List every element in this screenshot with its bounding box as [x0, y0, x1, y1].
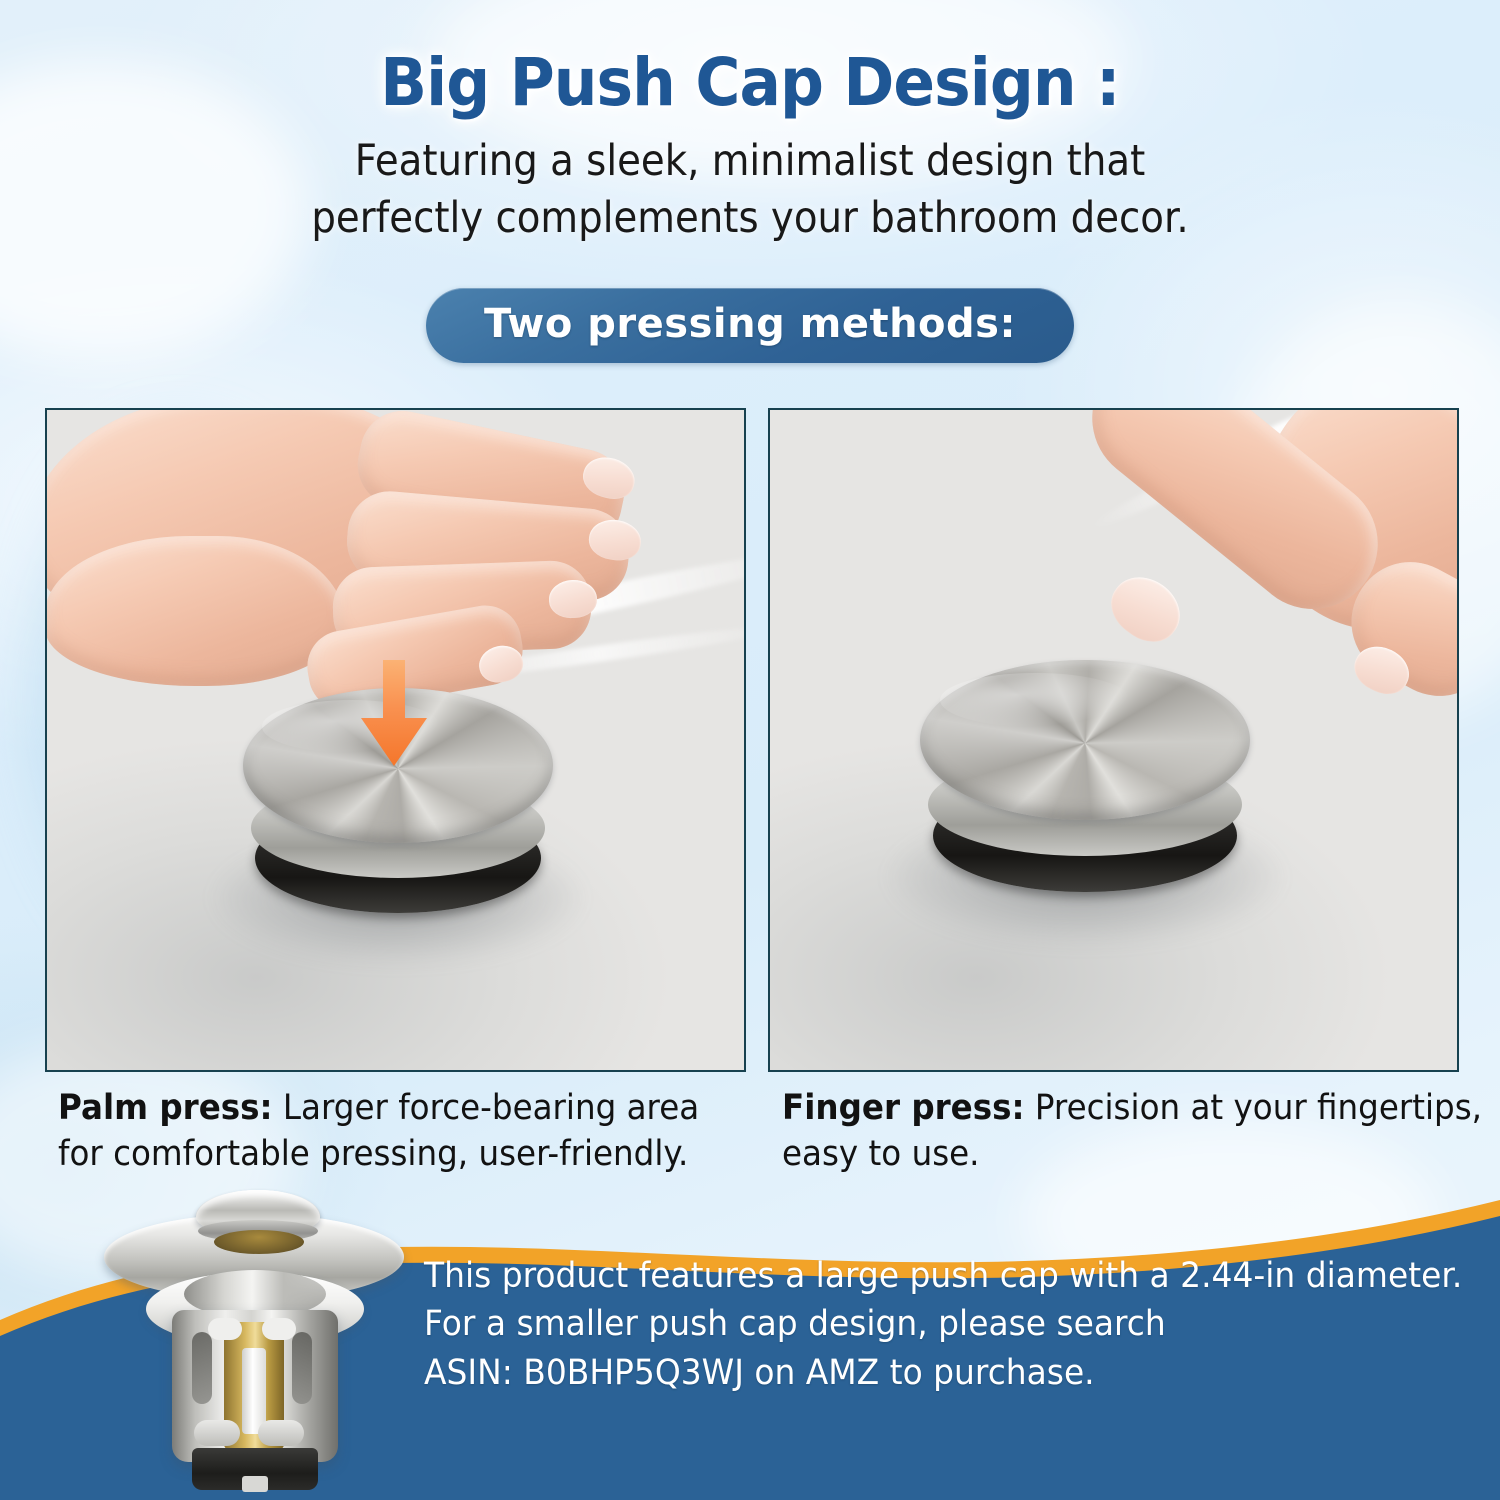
- caption-label-finger: Finger press:: [782, 1088, 1025, 1128]
- product-basket-slot: [262, 1318, 296, 1340]
- caption-text-finger-line-1: Precision at your fingertips,: [1025, 1088, 1483, 1128]
- push-drain-cap: [920, 660, 1250, 918]
- photo-panel-finger-press: [768, 408, 1459, 1072]
- photo-panel-palm-press: [45, 408, 746, 1072]
- caption-finger-press: Finger press: Precision at your fingerti…: [782, 1086, 1489, 1177]
- caption-label-palm: Palm press:: [58, 1088, 273, 1128]
- caption-text-finger-line-2: easy to use.: [782, 1132, 1489, 1178]
- banner-message: This product features a large push cap w…: [424, 1252, 1462, 1397]
- banner-line-1: This product features a large push cap w…: [424, 1252, 1462, 1300]
- banner-line-3: ASIN: B0BHP5Q3WJ on AMZ to purchase.: [424, 1349, 1462, 1397]
- badge-container: Two pressing methods:: [0, 288, 1500, 363]
- page-subtitle: Featuring a sleek, minimalist design tha…: [75, 133, 1425, 247]
- banner-line-2: For a smaller push cap design, please se…: [424, 1300, 1462, 1348]
- product-basket-slot: [258, 1420, 304, 1446]
- product-base-notch: [242, 1476, 268, 1492]
- subtitle-line-2: perfectly complements your bathroom deco…: [75, 190, 1425, 247]
- caption-palm-press: Palm press: Larger force-bearing area fo…: [58, 1086, 765, 1177]
- product-basket-slot: [194, 1420, 240, 1446]
- product-image-drain-stopper: [96, 1186, 412, 1500]
- cap-brushed-top: [920, 660, 1250, 820]
- subtitle-line-1: Featuring a sleek, minimalist design tha…: [75, 133, 1425, 190]
- press-direction-arrow-icon: [359, 660, 429, 768]
- product-basket-slot: [208, 1318, 242, 1340]
- product-internal-white-rod: [242, 1348, 266, 1434]
- product-cap-inner-shadow: [214, 1230, 304, 1254]
- page-title: Big Push Cap Design :: [53, 44, 1448, 121]
- two-pressing-methods-badge: Two pressing methods:: [426, 288, 1074, 363]
- product-basket-slot: [292, 1332, 312, 1404]
- infographic-page: Big Push Cap Design : Featuring a sleek,…: [0, 0, 1500, 1500]
- caption-text-palm-line-1: Larger force-bearing area: [273, 1088, 700, 1128]
- caption-text-palm-line-2: for comfortable pressing, user-friendly.: [58, 1132, 765, 1178]
- product-basket-slot: [192, 1332, 212, 1404]
